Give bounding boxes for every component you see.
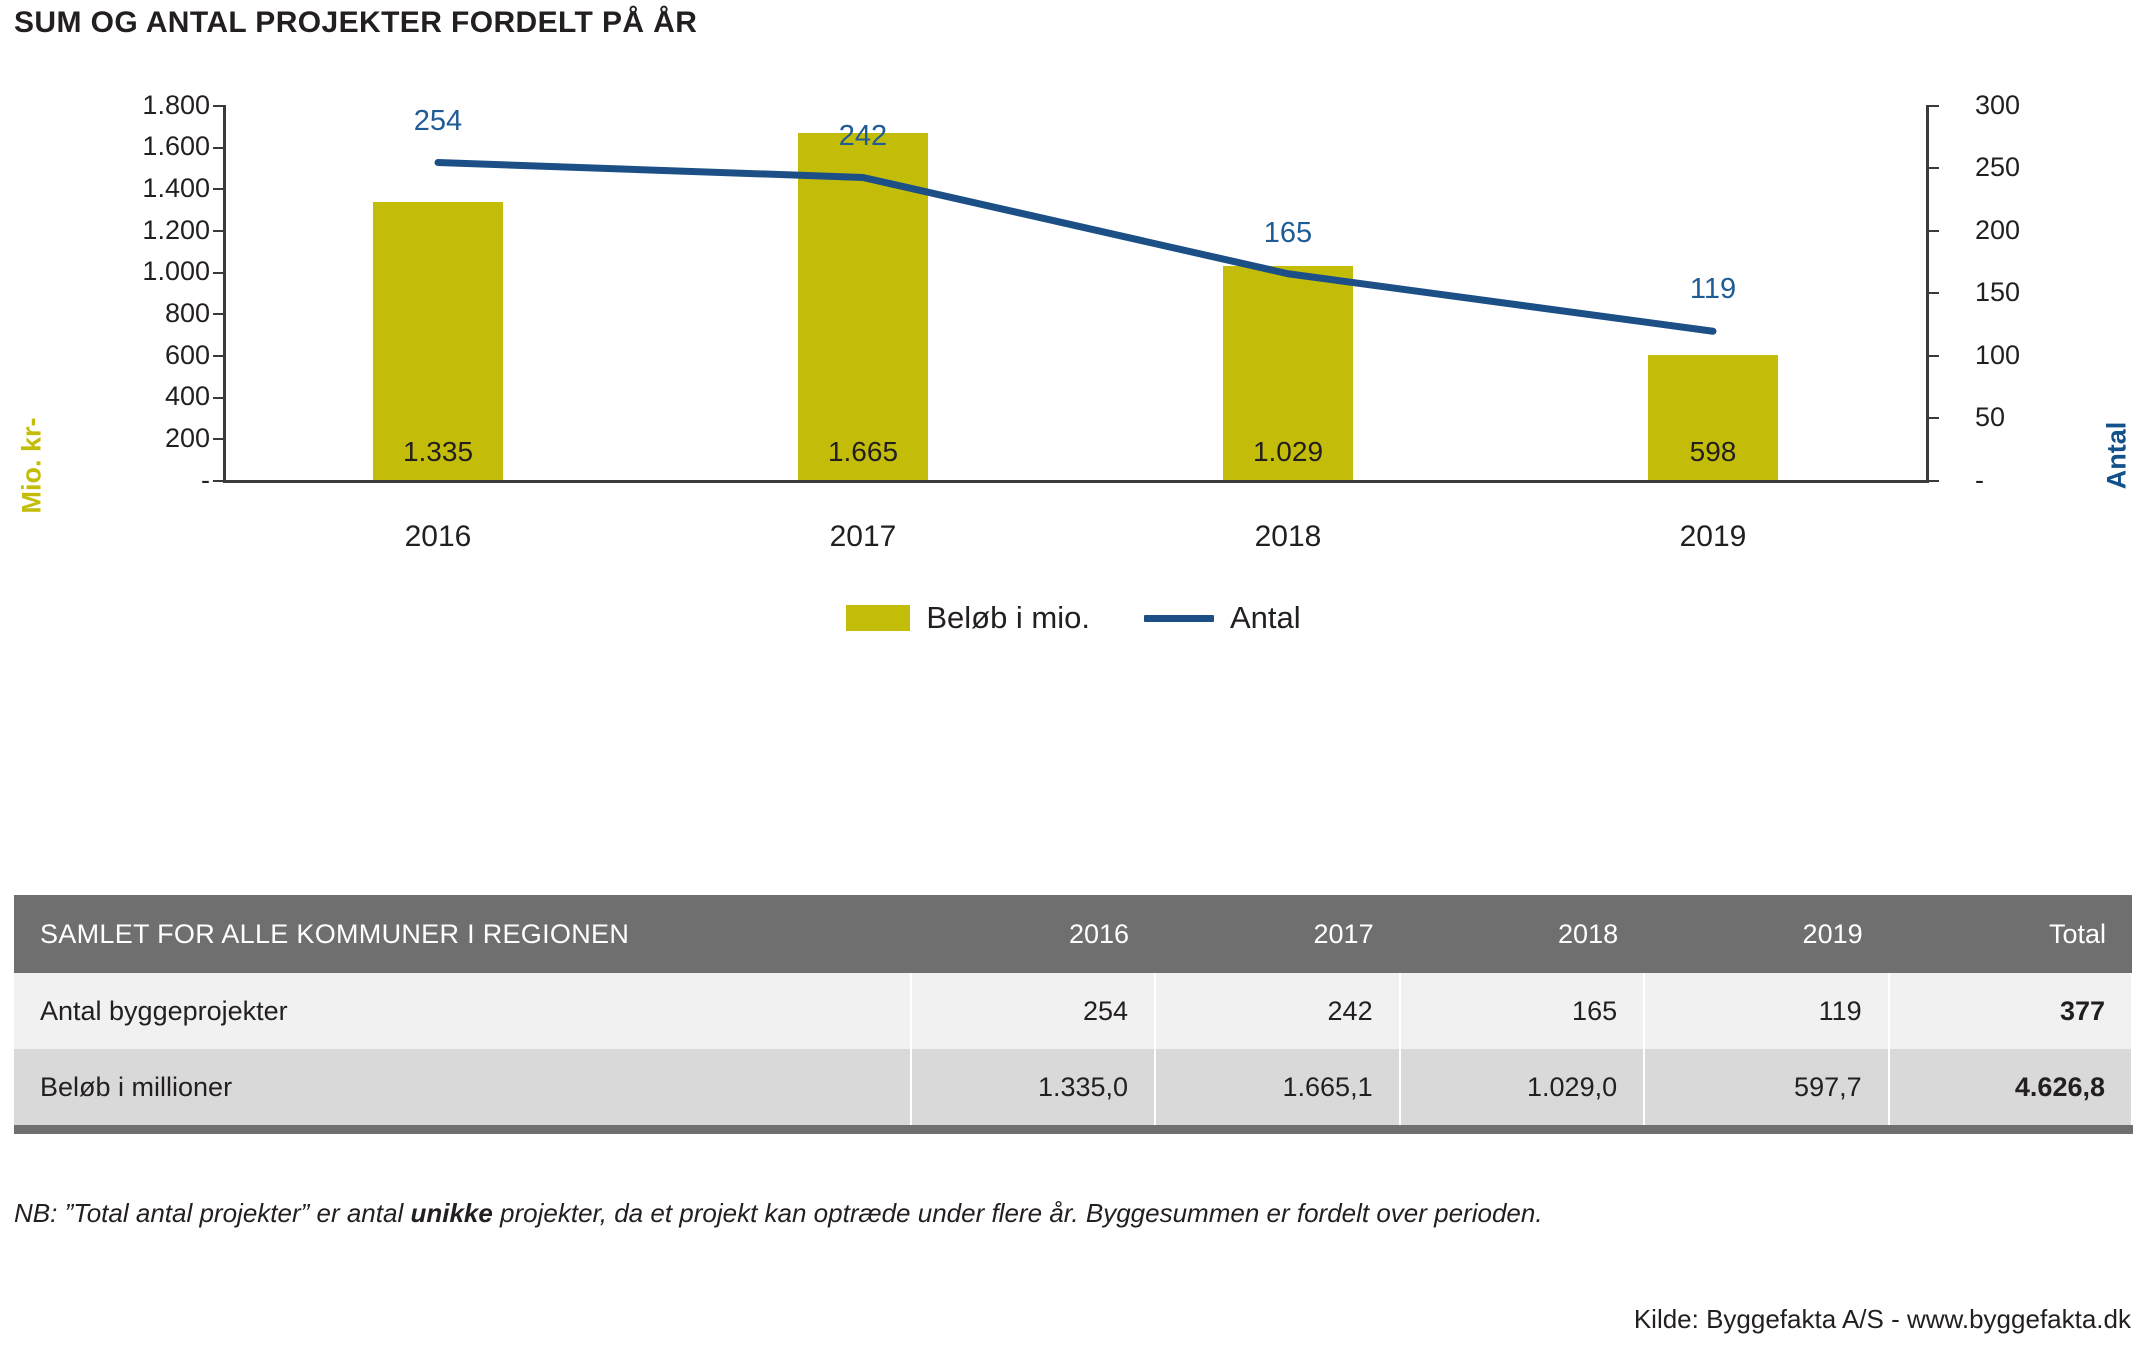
right-tick-100: 100 (1975, 342, 2020, 369)
right-tickmark-100 (1929, 355, 1939, 357)
footnote-part2: projekter, da et projekt kan optræde und… (493, 1198, 1543, 1228)
table-header-2017: 2017 (1155, 895, 1400, 973)
left-tick-1200: 1.200 (142, 217, 210, 244)
x-axis-category-labels: 2016 2017 2018 2019 (225, 520, 1925, 570)
left-tick-1400: 1.400 (142, 175, 210, 202)
summary-table: SAMLET FOR ALLE KOMMUNER I REGIONEN 2016… (14, 895, 2133, 1125)
xlabel-2018: 2018 (1178, 520, 1398, 554)
right-axis-title: Antal (2102, 401, 2133, 511)
cell-antal-2017: 242 (1155, 973, 1400, 1049)
right-tickmark-250 (1929, 167, 1939, 169)
left-tick-1000: 1.000 (142, 258, 210, 285)
left-tickmark-zero (213, 480, 223, 482)
legend-label-belob: Beløb i mio. (926, 600, 1090, 636)
left-tickmark-1200 (213, 230, 223, 232)
page-title: SUM OG ANTAL PROJEKTER FORDELT PÅ ÅR (14, 6, 697, 40)
right-tick-150: 150 (1975, 279, 2020, 306)
right-tickmark-150 (1929, 292, 1939, 294)
cell-belob-total: 4.626,8 (1889, 1049, 2132, 1125)
left-tickmark-600 (213, 355, 223, 357)
left-tickmark-1800 (213, 105, 223, 107)
left-axis-tick-labels: 1.800 1.600 1.400 1.200 1.000 800 600 40… (60, 80, 210, 505)
left-tickmark-400 (213, 397, 223, 399)
left-tickmark-800 (213, 313, 223, 315)
table-header-total: Total (1889, 895, 2132, 973)
right-tick-300: 300 (1975, 92, 2020, 119)
footnote: NB: ”Total antal projekter” er antal uni… (14, 1198, 1543, 1229)
line-label-2017: 242 (793, 120, 933, 153)
cell-belob-2016: 1.335,0 (911, 1049, 1156, 1125)
table-body: Antal byggeprojekter 254 242 165 119 377… (14, 973, 2132, 1125)
legend-line-swatch-icon (1144, 615, 1214, 622)
cell-belob-2018: 1.029,0 (1400, 1049, 1645, 1125)
left-tick-800: 800 (165, 300, 210, 327)
table-header-name: SAMLET FOR ALLE KOMMUNER I REGIONEN (14, 895, 911, 973)
table-header-2019: 2019 (1644, 895, 1889, 973)
footnote-emphasis: unikke (410, 1198, 492, 1228)
antal-polyline (438, 163, 1713, 332)
xlabel-2019: 2019 (1603, 520, 1823, 554)
right-tickmark-200 (1929, 230, 1939, 232)
legend-item-antal[interactable]: Antal (1144, 600, 1301, 636)
left-tickmark-1000 (213, 272, 223, 274)
left-tick-zero: - (201, 467, 210, 494)
xlabel-2016: 2016 (328, 520, 548, 554)
row-label-belob-i-millioner: Beløb i millioner (14, 1049, 911, 1125)
table-head: SAMLET FOR ALLE KOMMUNER I REGIONEN 2016… (14, 895, 2132, 973)
chart-legend: Beløb i mio. Antal (0, 600, 2147, 636)
left-tickmark-200 (213, 438, 223, 440)
line-label-2019: 119 (1643, 273, 1783, 306)
x-axis-line (223, 480, 1929, 483)
plot-area: 1.335 1.665 1.029 598 254 242 165 119 (225, 105, 1925, 480)
cell-belob-2019: 597,7 (1644, 1049, 1889, 1125)
summary-table-wrapper: SAMLET FOR ALLE KOMMUNER I REGIONEN 2016… (14, 895, 2133, 1134)
right-tickmark-300 (1929, 105, 1939, 107)
table-row: Beløb i millioner 1.335,0 1.665,1 1.029,… (14, 1049, 2132, 1125)
right-tick-200: 200 (1975, 217, 2020, 244)
left-axis-title: Mio. kr- (17, 406, 48, 526)
chart-area: Mio. kr- Antal 1.800 1.600 1.400 1.200 1… (0, 80, 2147, 780)
line-label-2016: 254 (368, 105, 508, 138)
right-tick-zero: - (1975, 467, 1984, 494)
left-tickmark-1600 (213, 147, 223, 149)
xlabel-2017: 2017 (753, 520, 973, 554)
row-label-antal-byggeprojekter: Antal byggeprojekter (14, 973, 911, 1049)
table-bottom-rule (14, 1125, 2133, 1134)
right-tick-50: 50 (1975, 404, 2005, 431)
table-header-2016: 2016 (911, 895, 1156, 973)
right-axis-tick-labels: 300 250 200 150 100 50 - (1975, 80, 2095, 505)
right-tickmark-50 (1929, 417, 1939, 419)
line-label-2018: 165 (1218, 217, 1358, 250)
table-header-2018: 2018 (1400, 895, 1645, 973)
legend-label-antal: Antal (1230, 600, 1301, 636)
legend-item-belob[interactable]: Beløb i mio. (846, 600, 1090, 636)
footnote-part1: NB: ”Total antal projekter” er antal (14, 1198, 410, 1228)
left-tick-200: 200 (165, 425, 210, 452)
cell-antal-2018: 165 (1400, 973, 1645, 1049)
cell-antal-total: 377 (1889, 973, 2132, 1049)
left-tick-400: 400 (165, 383, 210, 410)
table-header-row: SAMLET FOR ALLE KOMMUNER I REGIONEN 2016… (14, 895, 2132, 973)
cell-antal-2016: 254 (911, 973, 1156, 1049)
cell-antal-2019: 119 (1644, 973, 1889, 1049)
left-tickmark-1400 (213, 188, 223, 190)
left-tick-1600: 1.600 (142, 133, 210, 160)
table-row: Antal byggeprojekter 254 242 165 119 377 (14, 973, 2132, 1049)
cell-belob-2017: 1.665,1 (1155, 1049, 1400, 1125)
right-tick-250: 250 (1975, 154, 2020, 181)
left-tick-600: 600 (165, 342, 210, 369)
right-tickmark-zero (1929, 480, 1939, 482)
left-tick-1800: 1.800 (142, 92, 210, 119)
source-line: Kilde: Byggefakta A/S - www.byggefakta.d… (1634, 1304, 2131, 1335)
legend-bar-swatch-icon (846, 605, 910, 631)
